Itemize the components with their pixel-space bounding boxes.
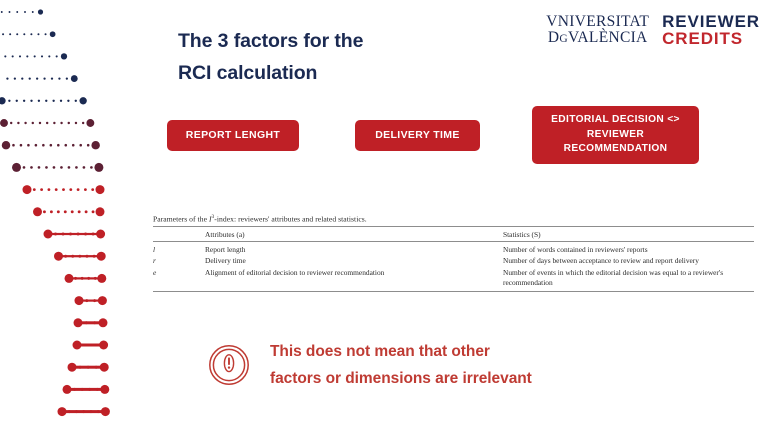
universitat-de-valencia-logo: VNIVERSITAT DGVALÈNCIA bbox=[546, 14, 649, 46]
bottom-note-line-1: This does not mean that other bbox=[270, 338, 532, 365]
bottom-note-text: This does not mean that other factors or… bbox=[270, 338, 532, 392]
row-symbol: l bbox=[153, 242, 205, 256]
factor-button-report-length[interactable]: REPORT LENGHT bbox=[167, 120, 299, 151]
table-header-statistics: Statistics (S) bbox=[503, 227, 754, 242]
reviewer-credits-logo: REVIEWER CREDITS bbox=[662, 13, 760, 47]
row-attribute: Alignment of editorial decision to revie… bbox=[205, 267, 503, 291]
uv-logo-crest-glyph: G bbox=[559, 33, 568, 45]
parameters-table-block: Parameters of the I3-index: reviewers' a… bbox=[153, 214, 754, 292]
parameters-table: Attributes (a) Statistics (S) l Report l… bbox=[153, 226, 754, 292]
factor-button-delivery-time[interactable]: DELIVERY TIME bbox=[355, 120, 480, 151]
table-caption-post: -index: reviewers' attributes and relate… bbox=[214, 215, 366, 224]
table-body: l Report length Number of words containe… bbox=[153, 242, 754, 292]
table-caption-pre: Parameters of the bbox=[153, 215, 209, 224]
uv-logo-line-2-post: VALÈNCIA bbox=[568, 29, 648, 46]
row-attribute: Delivery time bbox=[205, 255, 503, 266]
page-title-line-2: RCI calculation bbox=[178, 58, 508, 90]
decorative-dot-pattern bbox=[0, 0, 135, 432]
uv-logo-line-2: DGVALÈNCIA bbox=[546, 30, 649, 46]
row-attribute: Report length bbox=[205, 242, 503, 256]
row-symbol: r bbox=[153, 255, 205, 266]
row-statistic: Number of days between acceptance to rev… bbox=[503, 255, 754, 266]
rc-logo-line-2: CREDITS bbox=[662, 30, 760, 47]
bottom-note-line-2: factors or dimensions are irrelevant bbox=[270, 365, 532, 392]
table-header-row: Attributes (a) Statistics (S) bbox=[153, 227, 754, 242]
logo-bar: VNIVERSITAT DGVALÈNCIA REVIEWER CREDITS bbox=[546, 13, 760, 47]
table-row: r Delivery time Number of days between a… bbox=[153, 255, 754, 266]
table-row: e Alignment of editorial decision to rev… bbox=[153, 267, 754, 291]
row-symbol: e bbox=[153, 267, 205, 291]
table-header-attributes: Attributes (a) bbox=[205, 227, 503, 242]
uv-logo-line-2-pre: D bbox=[548, 29, 560, 46]
table-row: l Report length Number of words containe… bbox=[153, 242, 754, 256]
factor-button-editorial-decision[interactable]: EDITORIAL DECISION <> REVIEWER RECOMMEND… bbox=[532, 106, 699, 164]
bottom-note: This does not mean that other factors or… bbox=[208, 338, 532, 392]
table-caption: Parameters of the I3-index: reviewers' a… bbox=[153, 214, 754, 226]
rc-logo-line-1: REVIEWER bbox=[662, 13, 760, 30]
page-title: The 3 factors for the RCI calculation bbox=[178, 26, 508, 89]
table-header-symbol bbox=[153, 227, 205, 242]
row-statistic: Number of events in which the editorial … bbox=[503, 267, 754, 291]
page-title-line-1: The 3 factors for the bbox=[178, 26, 508, 58]
uv-logo-line-1: VNIVERSITAT bbox=[546, 14, 649, 30]
exclamation-circle-icon bbox=[208, 344, 250, 386]
row-statistic: Number of words contained in reviewers' … bbox=[503, 242, 754, 256]
